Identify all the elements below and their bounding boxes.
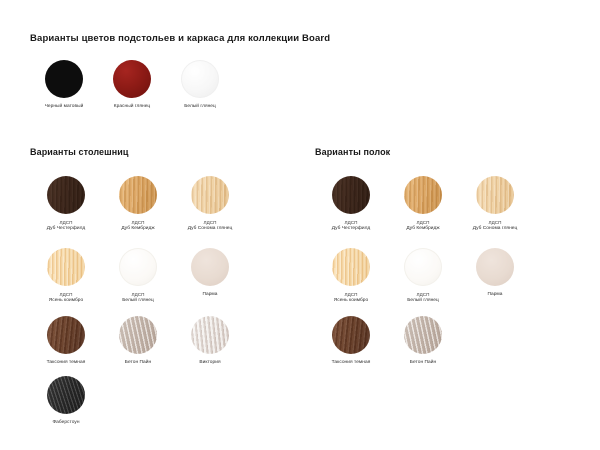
swatch-caption: ЛДСПДуб Кембридж xyxy=(98,220,178,233)
swatch-caption: Таксония темная xyxy=(26,360,106,366)
swatch-disc-parma xyxy=(191,248,229,286)
swatch-label: Дуб Честерфилд xyxy=(311,226,391,232)
swatch-disc-ash-coimbra xyxy=(332,248,370,286)
tabletops-row: Фаберстоун xyxy=(30,376,102,426)
swatch-taxonia-dark[interactable]: Таксония темная xyxy=(30,316,102,366)
swatch-disc-beton-pine xyxy=(404,316,442,354)
swatch-label: Бетон Пайн xyxy=(98,360,178,366)
swatch-oak-cambridge[interactable]: ЛДСПДуб Кембридж xyxy=(387,176,459,233)
swatch-red-gloss[interactable]: Красный глянец xyxy=(98,60,166,110)
swatch-disc-beton-pine xyxy=(119,316,157,354)
swatch-label: Белый глянец xyxy=(383,298,463,304)
swatch-caption: Фаберстоун xyxy=(26,420,106,426)
swatch-label: Бетон Пайн xyxy=(383,360,463,366)
swatch-caption: ЛДСПДуб Честерфилд xyxy=(311,220,391,233)
swatch-white-gloss[interactable]: Белый глянец xyxy=(166,60,234,110)
swatch-parma[interactable]: Парма xyxy=(174,248,246,305)
swatch-label: Белый глянец xyxy=(160,104,240,110)
base-colors-group: Черный матовыйКрасный глянецБелый глянец xyxy=(30,60,234,110)
swatch-disc-oak-chesterfield xyxy=(332,176,370,214)
swatch-oak-sonoma[interactable]: ЛДСПДуб Сонома глянец xyxy=(459,176,531,233)
swatch-caption: Парма xyxy=(455,292,535,298)
swatch-caption: ЛДСПБелый глянец xyxy=(383,292,463,305)
swatch-label: Таксония темная xyxy=(311,360,391,366)
swatch-label: Дуб Кембридж xyxy=(98,226,178,232)
swatch-disc-ash-coimbra xyxy=(47,248,85,286)
swatch-label: Дуб Кембридж xyxy=(383,226,463,232)
section-title-tabletops: Варианты столешниц xyxy=(30,147,129,157)
swatch-caption: Бетон Пайн xyxy=(383,360,463,366)
swatch-taxonia-dark[interactable]: Таксония темная xyxy=(315,316,387,366)
swatch-white-gloss-ldsp[interactable]: ЛДСПБелый глянец xyxy=(102,248,174,305)
swatch-oak-chesterfield[interactable]: ЛДСПДуб Честерфилд xyxy=(315,176,387,233)
swatch-ash-coimbra[interactable]: ЛДСПЯсень коимбро xyxy=(315,248,387,305)
swatch-label: Фаберстоун xyxy=(26,420,106,426)
shelves-row: ЛДСПДуб ЧестерфилдЛДСПДуб КембриджЛДСПДу… xyxy=(315,176,531,233)
swatch-black-matte[interactable]: Черный матовый xyxy=(30,60,98,110)
swatch-oak-cambridge[interactable]: ЛДСПДуб Кембридж xyxy=(102,176,174,233)
swatch-disc-white-gloss-ldsp xyxy=(404,248,442,286)
swatch-disc-white-gloss xyxy=(181,60,219,98)
swatch-label: Виктория xyxy=(170,360,250,366)
swatch-victoria[interactable]: Виктория xyxy=(174,316,246,366)
swatch-caption: ЛДСПДуб Честерфилд xyxy=(26,220,106,233)
swatch-caption: ЛДСПДуб Сонома глянец xyxy=(170,220,250,233)
swatch-oak-chesterfield[interactable]: ЛДСПДуб Честерфилд xyxy=(30,176,102,233)
swatch-caption: ЛДСПДуб Кембридж xyxy=(383,220,463,233)
swatch-beton-pine[interactable]: Бетон Пайн xyxy=(387,316,459,366)
swatch-caption: Белый глянец xyxy=(160,104,240,110)
shelves-row: Таксония темнаяБетон Пайн xyxy=(315,316,459,366)
swatch-disc-oak-cambridge xyxy=(404,176,442,214)
swatch-disc-red-gloss xyxy=(113,60,151,98)
swatch-disc-taxonia-dark xyxy=(332,316,370,354)
swatch-disc-black-matte xyxy=(45,60,83,98)
swatch-disc-oak-sonoma xyxy=(191,176,229,214)
swatch-disc-oak-cambridge xyxy=(119,176,157,214)
swatch-white-gloss-ldsp[interactable]: ЛДСПБелый глянец xyxy=(387,248,459,305)
tabletops-row: ЛДСПЯсень коимброЛДСПБелый глянецПарма xyxy=(30,248,246,305)
swatch-caption: ЛДСПБелый глянец xyxy=(98,292,178,305)
swatch-caption: ЛДСПЯсень коимбро xyxy=(26,292,106,305)
swatch-disc-parma xyxy=(476,248,514,286)
swatch-label: Дуб Сонома глянец xyxy=(170,226,250,232)
section-title-shelves: Варианты полок xyxy=(315,147,390,157)
swatch-caption: ЛДСПЯсень коимбро xyxy=(311,292,391,305)
swatch-parma[interactable]: Парма xyxy=(459,248,531,305)
swatch-label: Ясень коимбро xyxy=(26,298,106,304)
swatch-label: Парма xyxy=(455,292,535,298)
swatch-caption: Парма xyxy=(170,292,250,298)
swatch-caption: Бетон Пайн xyxy=(98,360,178,366)
swatch-label: Белый глянец xyxy=(98,298,178,304)
swatch-label: Дуб Сонома глянец xyxy=(455,226,535,232)
swatch-ash-coimbra[interactable]: ЛДСПЯсень коимбро xyxy=(30,248,102,305)
swatch-label: Дуб Честерфилд xyxy=(26,226,106,232)
swatch-label: Парма xyxy=(170,292,250,298)
swatch-disc-white-gloss-ldsp xyxy=(119,248,157,286)
swatch-oak-sonoma[interactable]: ЛДСПДуб Сонома глянец xyxy=(174,176,246,233)
swatch-disc-victoria xyxy=(191,316,229,354)
tabletops-row: ЛДСПДуб ЧестерфилдЛДСПДуб КембриджЛДСПДу… xyxy=(30,176,246,233)
tabletops-row: Таксония темнаяБетон ПайнВиктория xyxy=(30,316,246,366)
swatch-disc-oak-chesterfield xyxy=(47,176,85,214)
swatch-beton-pine[interactable]: Бетон Пайн xyxy=(102,316,174,366)
swatch-label: Таксония темная xyxy=(26,360,106,366)
swatch-disc-fiberstone xyxy=(47,376,85,414)
swatch-fiberstone[interactable]: Фаберстоун xyxy=(30,376,102,426)
swatch-label: Ясень коимбро xyxy=(311,298,391,304)
swatch-disc-oak-sonoma xyxy=(476,176,514,214)
swatch-caption: Виктория xyxy=(170,360,250,366)
swatch-caption: Таксония темная xyxy=(311,360,391,366)
swatch-caption: ЛДСПДуб Сонома глянец xyxy=(455,220,535,233)
color-options-page: Варианты цветов подстольев и каркаса для… xyxy=(0,0,600,450)
page-title: Варианты цветов подстольев и каркаса для… xyxy=(30,33,330,44)
swatch-disc-taxonia-dark xyxy=(47,316,85,354)
shelves-row: ЛДСПЯсень коимброЛДСПБелый глянецПарма xyxy=(315,248,531,305)
